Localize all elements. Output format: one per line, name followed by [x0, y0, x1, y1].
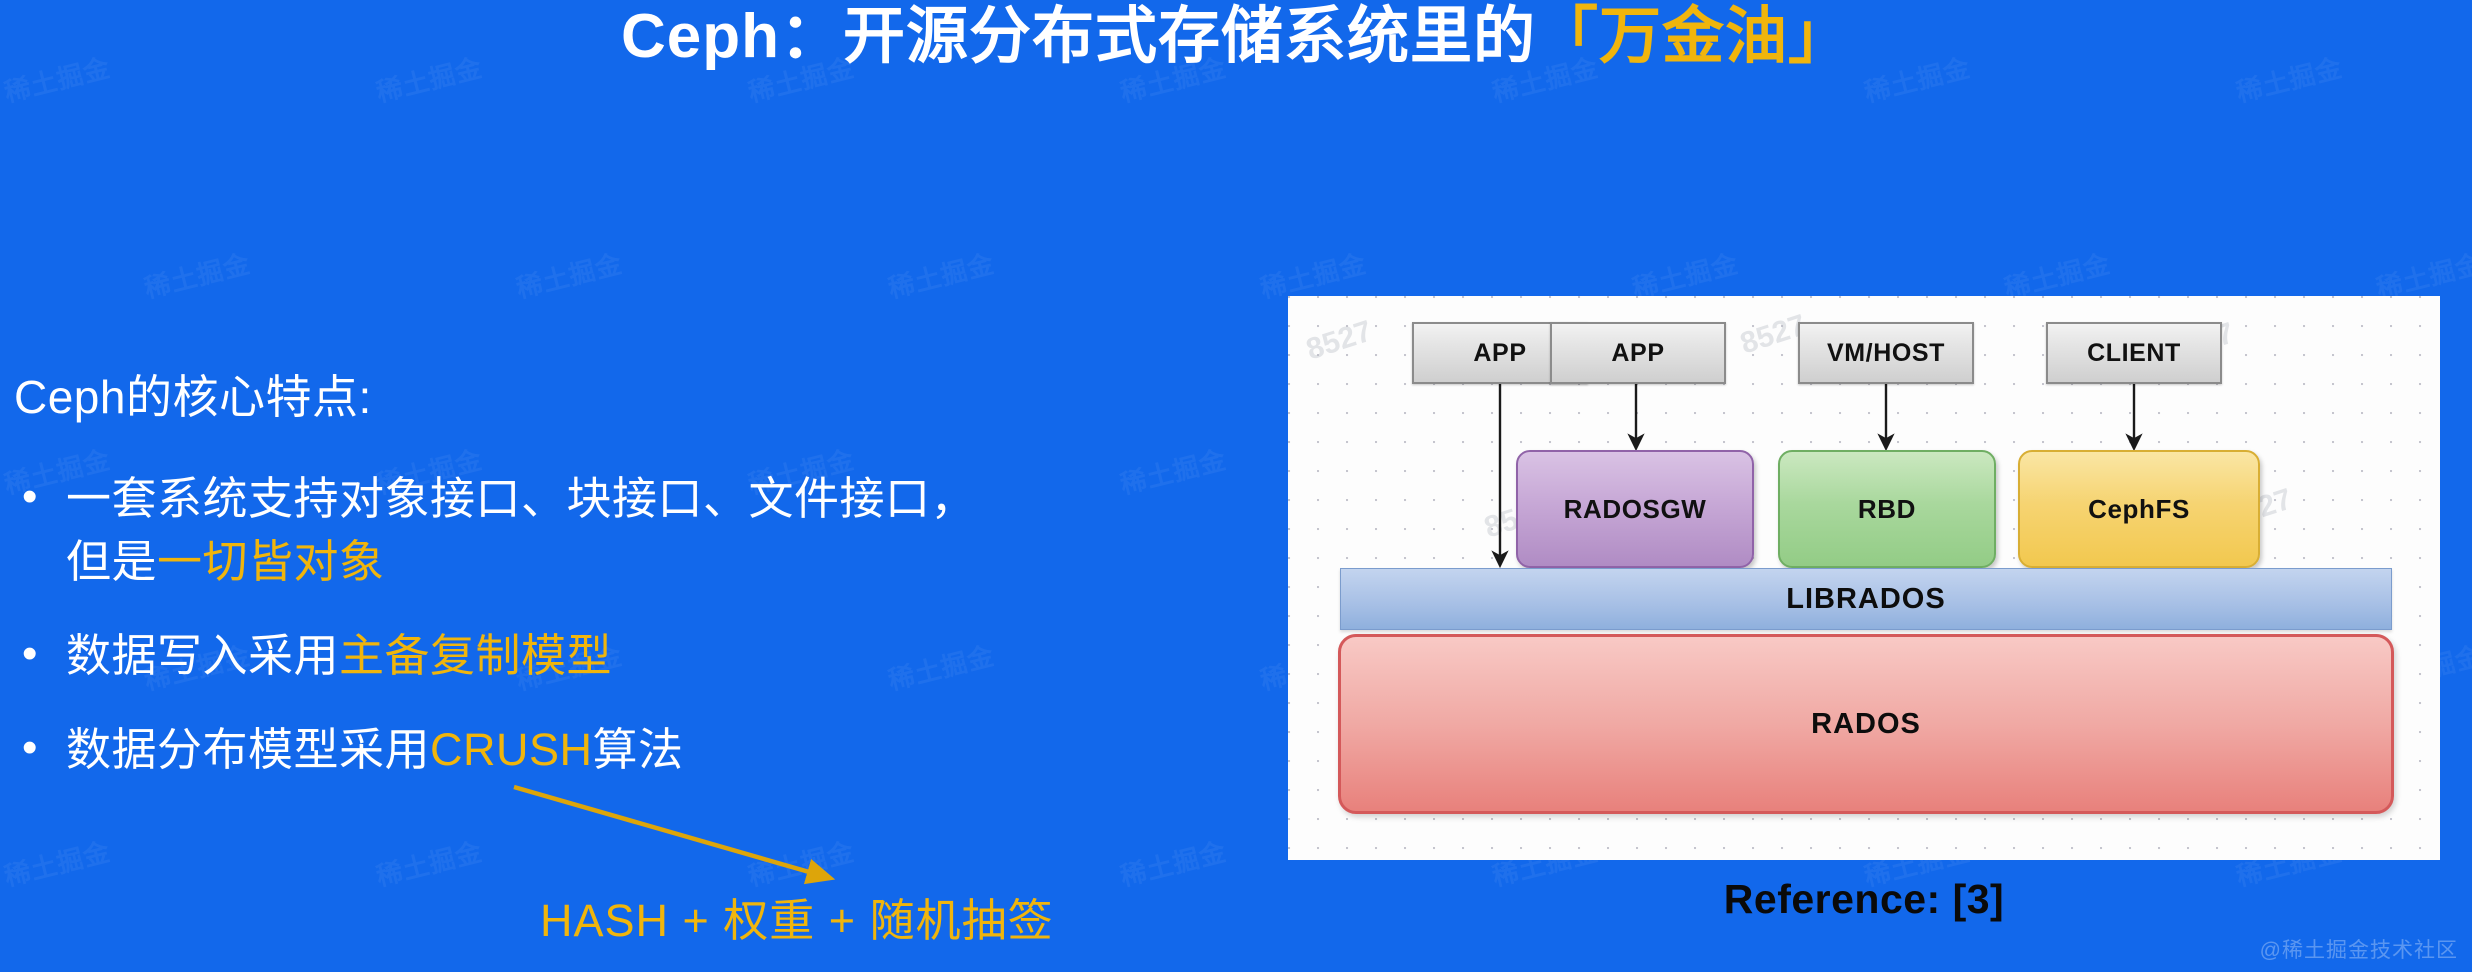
bullet-text-3: 数据分布模型采用CRUSH算法 — [66, 718, 684, 782]
crush-annotation-text: HASH + 权重 + 随机抽签 — [540, 884, 1054, 949]
page-title: Ceph：开源分布式存储系统里的「万金油」 — [0, 2, 2472, 71]
bullet-2-highlight: 主备复制模型 — [339, 630, 612, 681]
bullet-marker-icon: • — [14, 467, 66, 527]
list-item: • 数据分布模型采用CRUSH算法 — [14, 718, 1264, 782]
bullet-marker-icon: • — [14, 624, 66, 684]
content-intro: Ceph的核心特点: — [14, 372, 1264, 423]
page-title-main: Ceph：开源分布式存储系统里的 — [621, 2, 1536, 71]
bullet-3-line1: 数据分布模型采用 — [66, 724, 430, 775]
bullet-text-1: 一套系统支持对象接口、块接口、文件接口， 但是一切皆对象 — [66, 467, 976, 595]
bullet-text-2: 数据写入采用主备复制模型 — [66, 624, 612, 688]
bullet-1-line2: 但是 — [66, 536, 157, 587]
slide-canvas: 稀土掘金稀土掘金稀土掘金稀土掘金稀土掘金稀土掘金稀土掘金稀土掘金稀土掘金稀土掘金… — [0, 0, 2472, 972]
list-item: • 数据写入采用主备复制模型 — [14, 624, 1264, 688]
background-watermark-tile: 稀土掘金 — [0, 831, 114, 893]
diagram-box-cephfs: CephFS — [2018, 450, 2260, 568]
background-watermark-tile: 稀土掘金 — [1116, 831, 1230, 893]
content-column: Ceph的核心特点: • 一套系统支持对象接口、块接口、文件接口， 但是一切皆对… — [14, 372, 1264, 812]
reference-caption: Reference: [3] — [1288, 876, 2440, 923]
background-watermark-tile: 稀土掘金 — [140, 243, 254, 305]
bullet-1-line2-highlight: 一切皆对象 — [157, 536, 385, 587]
diagram-box-rbd: RBD — [1778, 450, 1996, 568]
list-item: • 一套系统支持对象接口、块接口、文件接口， 但是一切皆对象 — [14, 467, 1264, 595]
bullet-3-highlight: CRUSH — [430, 724, 593, 775]
diagram-box-rados: RADOS — [1338, 634, 2394, 814]
diagram-box-vm-host: VM/HOST — [1798, 322, 1974, 384]
page-title-highlight: 「万金油」 — [1536, 2, 1851, 71]
diagram-box-radosgw: RADOSGW — [1516, 450, 1754, 568]
background-watermark-tile: 稀土掘金 — [372, 831, 486, 893]
diagram-watermark: 8527 — [1302, 315, 1376, 368]
bullet-3-tail: 算法 — [593, 724, 684, 775]
diagram-box-client: CLIENT — [2046, 322, 2222, 384]
background-watermark-tile: 稀土掘金 — [512, 243, 626, 305]
corner-watermark: @稀土掘金技术社区 — [2260, 934, 2458, 964]
bullet-1-line1: 一套系统支持对象接口、块接口、文件接口， — [66, 473, 976, 524]
ceph-architecture-diagram: 8527 8527 8527 8527 8527 8527 APP APP VM… — [1288, 296, 2440, 860]
bullet-marker-icon: • — [14, 718, 66, 778]
bullet-2-line1: 数据写入采用 — [66, 630, 339, 681]
diagram-box-librados: LIBRADOS — [1340, 568, 2392, 630]
diagram-box-app-2: APP — [1550, 322, 1726, 384]
background-watermark-tile: 稀土掘金 — [884, 243, 998, 305]
